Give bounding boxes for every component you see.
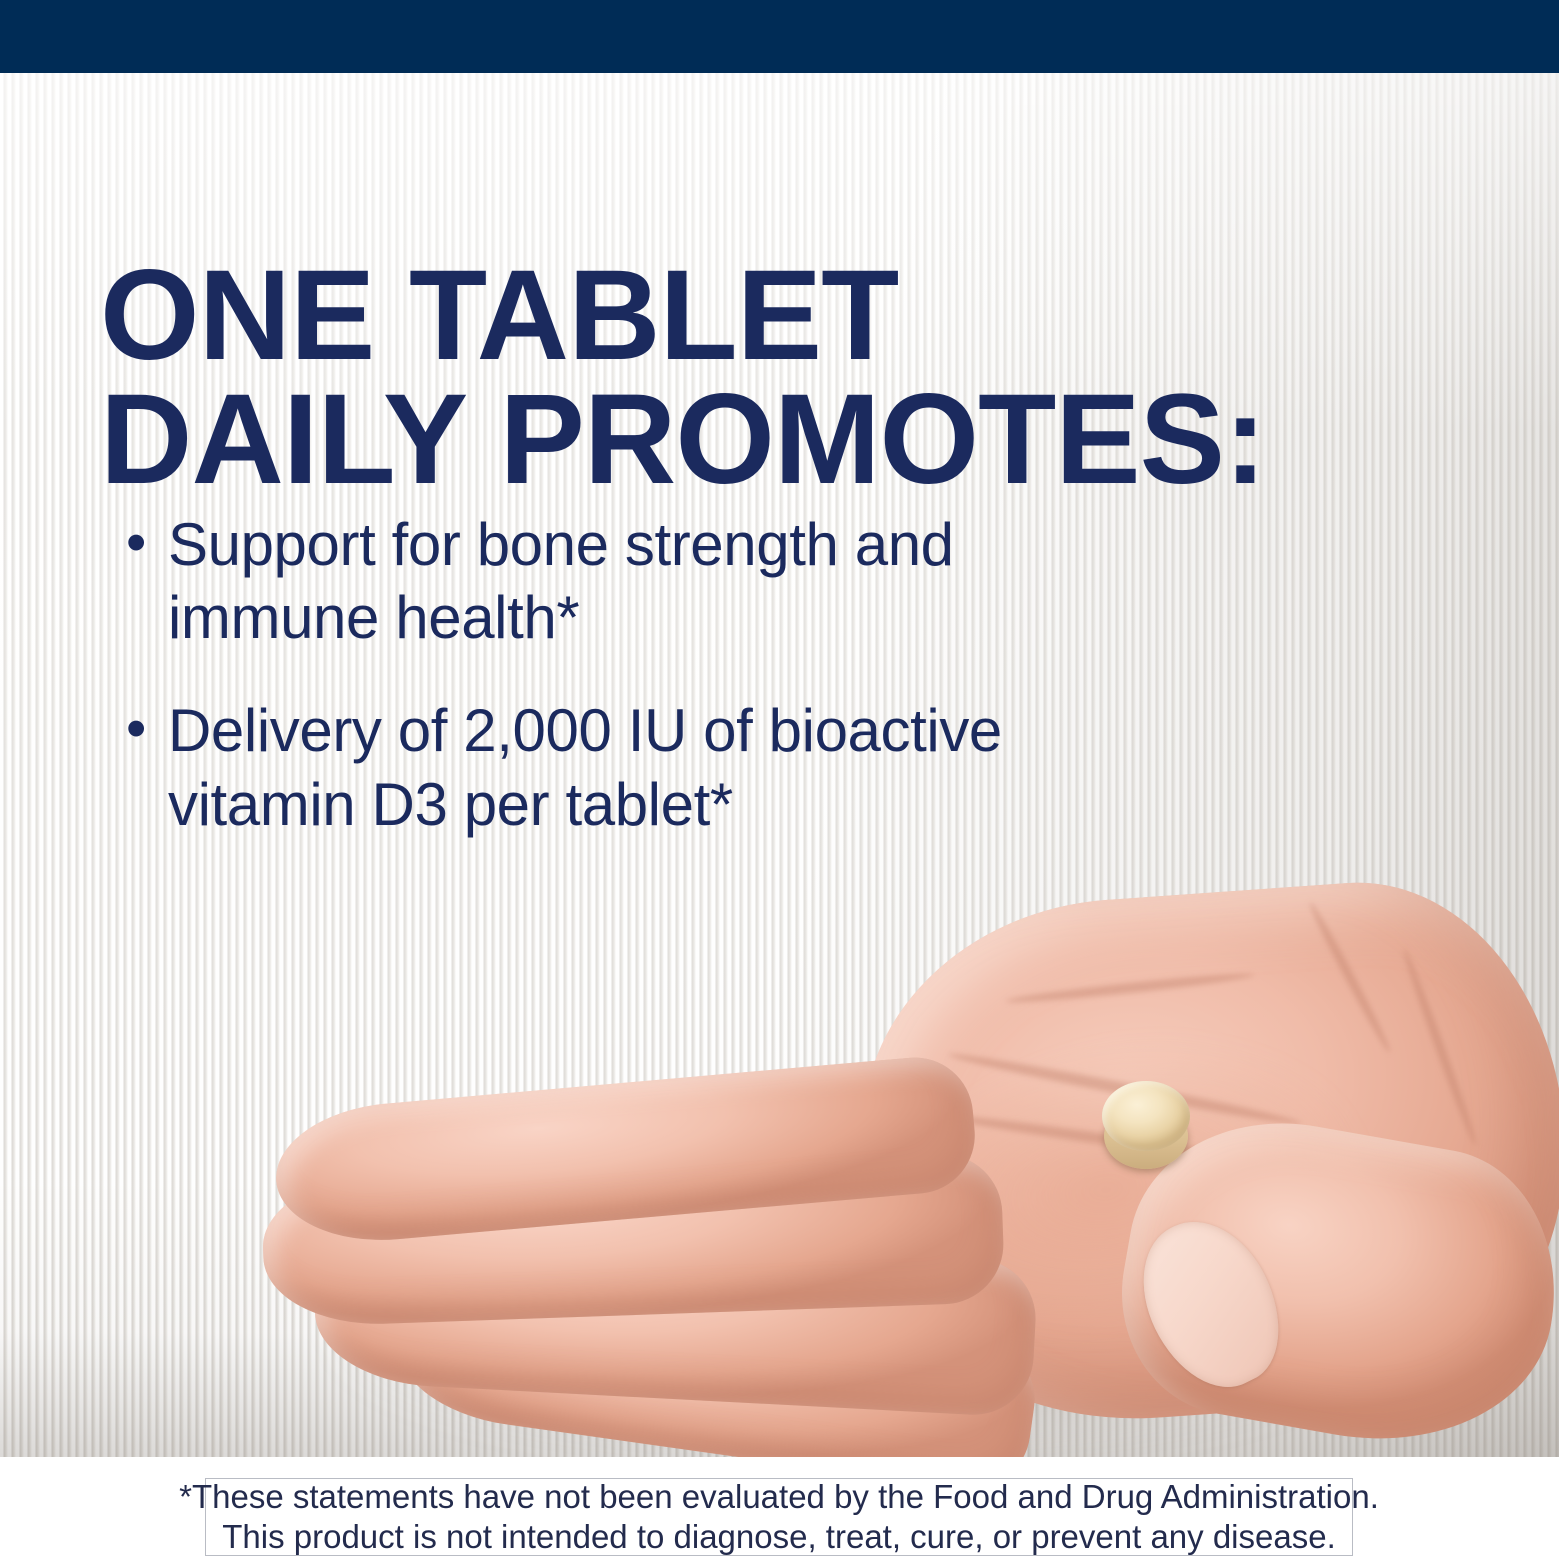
footer: *These statements have not been evaluate…: [0, 1457, 1559, 1559]
tablet-face: [1102, 1081, 1190, 1151]
benefits-list: • Support for bone strength and immune h…: [118, 508, 1198, 881]
open-palm-hand: [245, 833, 1559, 1457]
top-navy-bar: [0, 0, 1559, 73]
list-item: • Support for bone strength and immune h…: [118, 508, 1198, 654]
disclaimer-line-1: *These statements have not been evaluate…: [179, 1477, 1379, 1517]
benefit-text: Delivery of 2,000 IU of bioactive vitami…: [168, 694, 1048, 840]
product-infographic-canvas: ONE TABLET DAILY PROMOTES: • Support for…: [0, 0, 1559, 1559]
bullet-marker-icon: •: [118, 694, 168, 765]
benefit-text: Support for bone strength and immune hea…: [168, 508, 1048, 654]
bullet-marker-icon: •: [118, 508, 168, 579]
fda-disclaimer-box: *These statements have not been evaluate…: [205, 1478, 1353, 1556]
list-item: • Delivery of 2,000 IU of bioactive vita…: [118, 694, 1198, 840]
vitamin-d3-tablet: [1100, 1081, 1192, 1179]
page-title: ONE TABLET DAILY PROMOTES:: [100, 254, 1360, 502]
disclaimer-line-2: This product is not intended to diagnose…: [222, 1517, 1336, 1557]
